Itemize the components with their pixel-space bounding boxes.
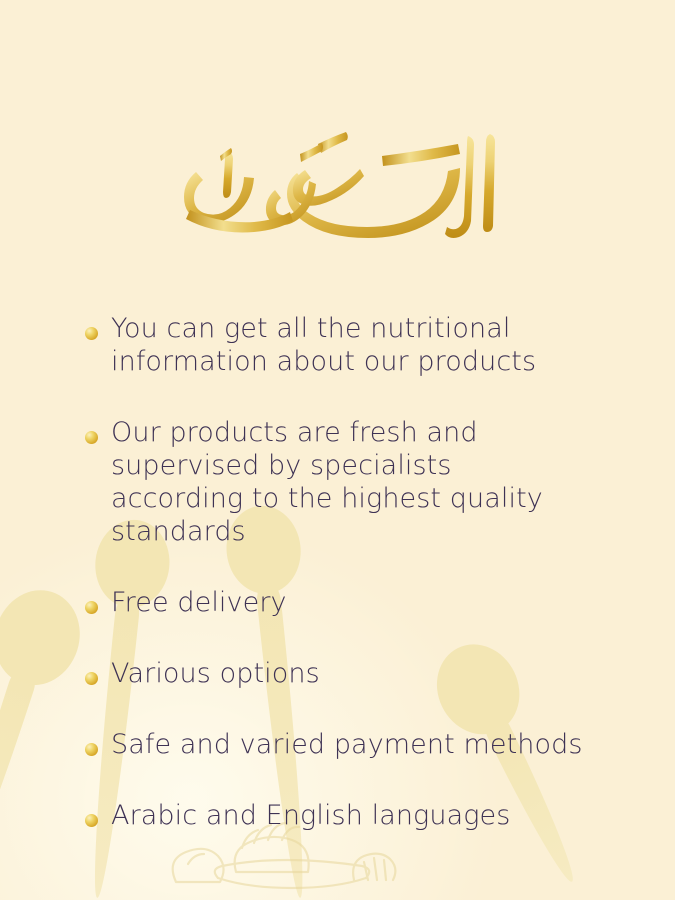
- list-item: Various options: [80, 657, 640, 690]
- list-item: Arabic and English languages: [80, 799, 640, 832]
- feature-text: Our products are fresh and supervised by…: [111, 416, 640, 548]
- bullet-dot-icon: [85, 601, 98, 614]
- brand-logo: [0, 118, 675, 258]
- bullet-dot-icon: [85, 327, 98, 340]
- list-item: You can get all the nutritional informat…: [80, 312, 640, 378]
- feature-text: Arabic and English languages: [111, 799, 640, 832]
- spoon-silhouette-1: [0, 579, 92, 900]
- feature-text: Various options: [111, 657, 640, 690]
- list-item: Free delivery: [80, 586, 640, 619]
- alqaraawi-arabic-logo-icon: [168, 122, 508, 254]
- bullet-dot-icon: [85, 743, 98, 756]
- bullet-dot-icon: [85, 814, 98, 827]
- list-item: Our products are fresh and supervised by…: [80, 416, 640, 548]
- bullet-dot-icon: [85, 672, 98, 685]
- feature-text: Free delivery: [111, 586, 640, 619]
- onboarding-screen: You can get all the nutritional informat…: [0, 0, 675, 900]
- spoon-bowl: [0, 579, 92, 696]
- spoon-handle: [0, 668, 38, 900]
- list-item: Safe and varied payment methods: [80, 728, 640, 761]
- feature-text: You can get all the nutritional informat…: [111, 312, 640, 378]
- bullet-dot-icon: [85, 431, 98, 444]
- feature-text: Safe and varied payment methods: [111, 728, 640, 761]
- feature-list: You can get all the nutritional informat…: [80, 312, 640, 832]
